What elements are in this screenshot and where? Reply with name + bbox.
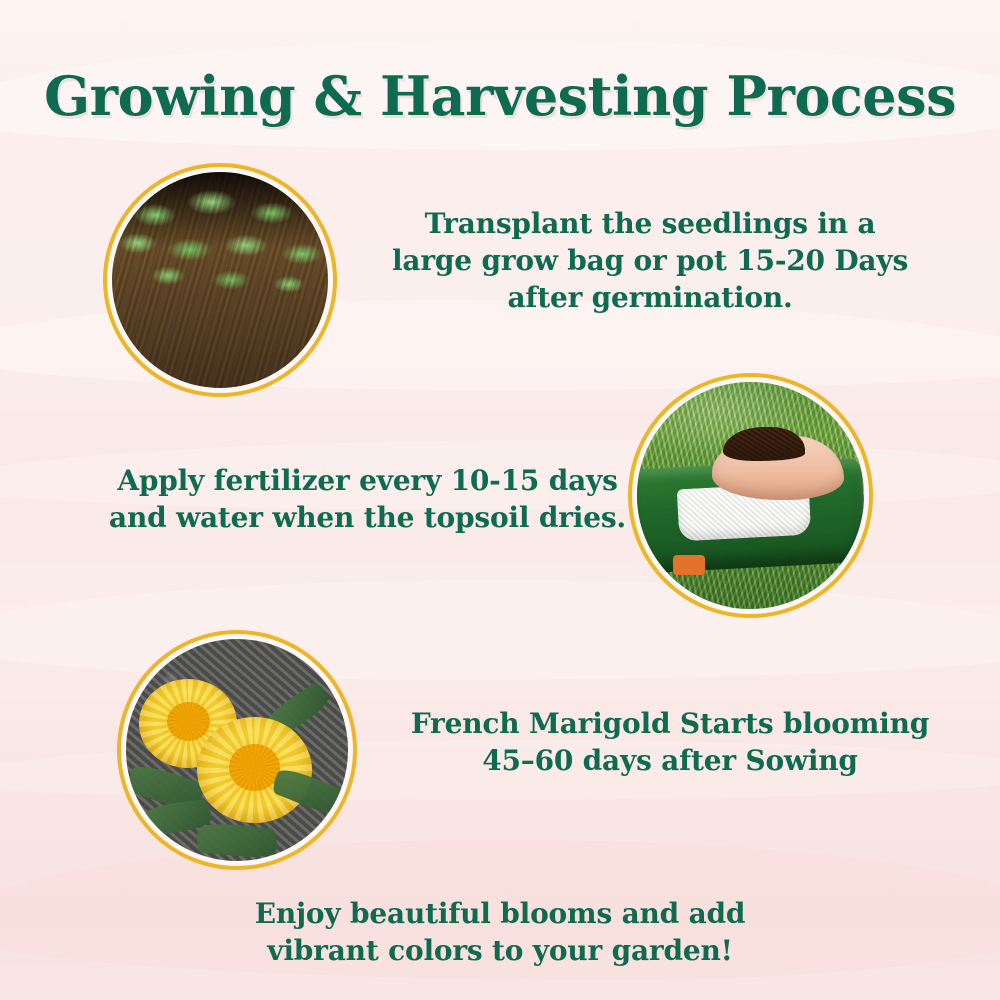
blooms-photo [126,639,348,861]
seedlings-photo-ring [103,163,337,397]
infographic-poster: Growing & Harvesting Process Transplant … [0,0,1000,1000]
seedlings-photo [112,172,328,388]
closing-text: Enjoy beautiful blooms and add vibrant c… [240,895,760,969]
blooms-photo-inner-border [121,634,353,866]
step-transplant-text: Transplant the seedlings in a large grow… [390,205,910,317]
fertilizer-photo-ring [628,373,873,618]
seedlings-photo-inner-border [107,167,333,393]
step-fertilize-text: Apply fertilizer every 10-15 days and wa… [95,462,640,536]
step-bloom-text: French Marigold Starts blooming 45–60 da… [410,705,930,779]
fertilizer-photo [637,382,864,609]
marigold-bud [126,639,162,663]
compost-handful [723,427,805,461]
fertilizer-photo-inner-border [632,377,869,614]
marigold-flower [197,717,312,824]
spreader-wheel [673,555,705,575]
page-title: Growing & Harvesting Process [0,64,1000,128]
blooms-photo-ring [117,630,357,870]
leaf-icon [196,821,279,860]
